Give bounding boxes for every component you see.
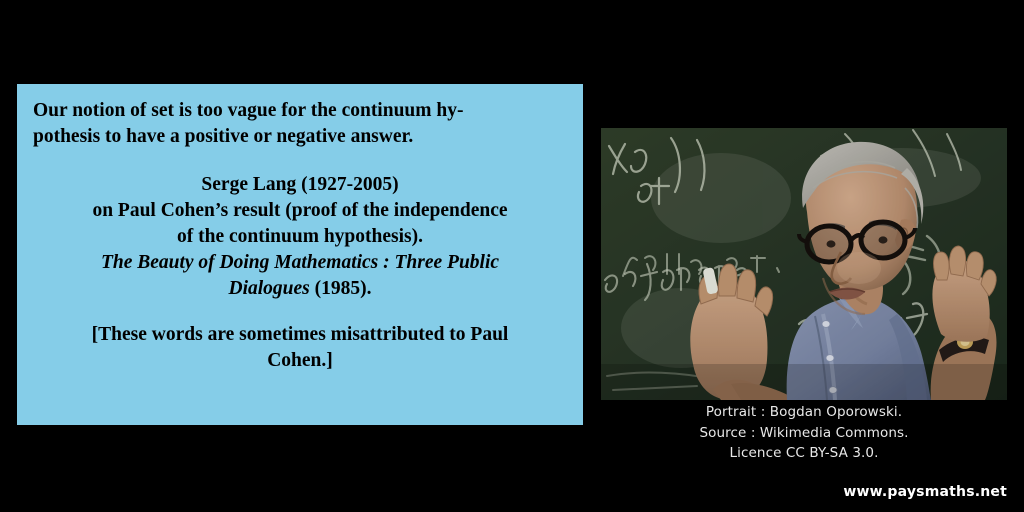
quote-context-line-2: of the continuum hypothesis). xyxy=(33,224,567,250)
quote-note-line-1: [These words are sometimes misattributed… xyxy=(33,322,567,348)
slide-canvas: Our notion of set is too vague for the c… xyxy=(0,0,1024,512)
quote-text-line-1: Our notion of set is too vague for the c… xyxy=(33,98,567,124)
caption-licence: Licence CC BY-SA 3.0. xyxy=(601,443,1007,464)
quote-box: Our notion of set is too vague for the c… xyxy=(17,84,583,425)
quote-source-title-continued: Dialogues xyxy=(228,278,309,299)
quote-source-title-line-2: Dialogues (1985). xyxy=(33,276,567,302)
quote-note-line-2: Cohen.] xyxy=(33,348,567,374)
quote-author: Serge Lang (1927-2005) xyxy=(33,172,567,198)
website-watermark: www.paysmaths.net xyxy=(843,484,1007,500)
quote-source-title-line-1: The Beauty of Doing Mathematics : Three … xyxy=(33,250,567,276)
quote-context-line-1: on Paul Cohen’s result (proof of the ind… xyxy=(33,198,567,224)
quote-text-line-2: pothesis to have a positive or negative … xyxy=(33,124,567,150)
spacer-after-quote xyxy=(33,150,567,172)
caption-portrait-credit: Portrait : Bogdan Oporowski. xyxy=(601,402,1007,423)
portrait-photo xyxy=(601,128,1007,400)
quote-source-year: (1985). xyxy=(310,278,372,299)
portrait-photo-graphic xyxy=(601,128,1007,400)
photo-caption: Portrait : Bogdan Oporowski. Source : Wi… xyxy=(601,402,1007,464)
caption-source: Source : Wikimedia Commons. xyxy=(601,423,1007,444)
spacer-before-note xyxy=(33,302,567,322)
